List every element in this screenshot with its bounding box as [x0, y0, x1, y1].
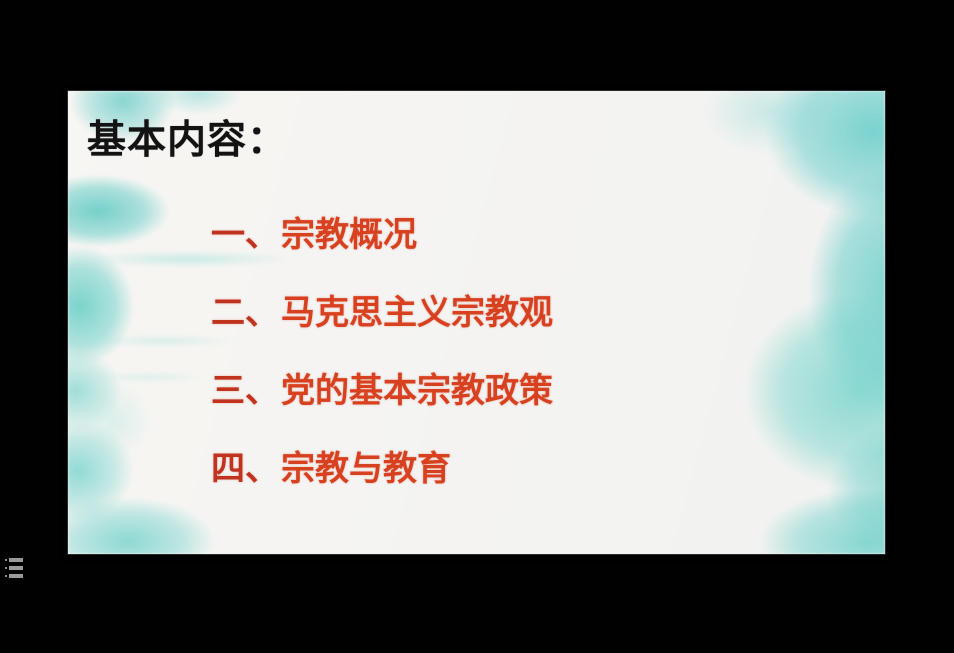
list-icon-bullet	[5, 575, 7, 577]
list-icon[interactable]	[5, 557, 23, 578]
slide-content: 基本内容： 一、 宗教概况 二、 马克思主义宗教观 三、 党的基本宗教政策 四、…	[68, 91, 885, 554]
agenda-list: 一、 宗教概况 二、 马克思主义宗教观 三、 党的基本宗教政策 四、 宗教与教育	[211, 218, 851, 486]
agenda-item-3-number: 三、	[211, 374, 279, 408]
list-icon-bullet	[5, 567, 7, 569]
list-icon-row	[5, 565, 23, 570]
video-player-screen: 基本内容： 一、 宗教概况 二、 马克思主义宗教观 三、 党的基本宗教政策 四、…	[0, 0, 954, 653]
agenda-item-4: 四、 宗教与教育	[211, 452, 851, 486]
list-icon-row	[5, 573, 23, 578]
presentation-slide: 基本内容： 一、 宗教概况 二、 马克思主义宗教观 三、 党的基本宗教政策 四、…	[68, 91, 885, 554]
agenda-item-3: 三、 党的基本宗教政策	[211, 374, 851, 408]
list-icon-bar	[9, 566, 23, 570]
agenda-item-4-number: 四、	[211, 452, 279, 486]
agenda-item-1-number: 一、	[211, 218, 279, 252]
agenda-item-2-label: 马克思主义宗教观	[281, 296, 553, 330]
agenda-item-3-label: 党的基本宗教政策	[281, 374, 553, 408]
list-icon-bullet	[5, 559, 7, 561]
list-icon-row	[5, 557, 23, 562]
agenda-item-4-label: 宗教与教育	[281, 452, 451, 486]
agenda-item-2-number: 二、	[211, 296, 279, 330]
agenda-item-1-label: 宗教概况	[281, 218, 417, 252]
agenda-item-2: 二、 马克思主义宗教观	[211, 296, 851, 330]
list-icon-bar	[9, 558, 23, 562]
list-icon-bar	[9, 574, 23, 578]
slide-title: 基本内容：	[87, 121, 287, 160]
agenda-item-1: 一、 宗教概况	[211, 218, 851, 252]
